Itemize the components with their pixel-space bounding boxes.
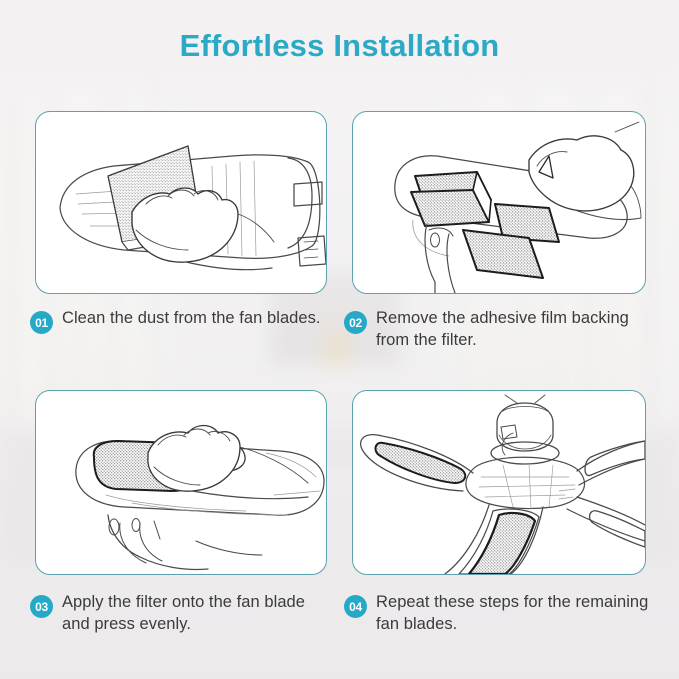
step-text-4: Repeat these steps for the remaining fan… <box>376 592 649 636</box>
step-text-3: Apply the filter onto the fan blade and … <box>62 592 330 636</box>
hand-wiping-fan-blade-icon <box>36 112 326 293</box>
step-badge-4: 04 <box>344 595 367 618</box>
step-caption-2: 02 Remove the adhesive film backing from… <box>344 308 649 352</box>
step-badge-3: 03 <box>30 595 53 618</box>
infographic-canvas: Effortless Installation <box>0 0 679 679</box>
page-title: Effortless Installation <box>0 28 679 64</box>
step-illustration-panel-2 <box>352 111 646 294</box>
step-text-1: Clean the dust from the fan blades. <box>62 308 321 330</box>
step-badge-2: 02 <box>344 311 367 334</box>
step-illustration-panel-3 <box>35 390 327 575</box>
step-illustration-panel-4 <box>352 390 646 575</box>
step-text-2: Remove the adhesive film backing from th… <box>376 308 649 352</box>
step-illustration-panel-1 <box>35 111 327 294</box>
step-caption-4: 04 Repeat these steps for the remaining … <box>344 592 649 636</box>
step-caption-1: 01 Clean the dust from the fan blades. <box>30 308 330 334</box>
hands-pressing-filter-onto-blade-icon <box>36 391 326 574</box>
hand-peeling-adhesive-film-icon <box>353 112 645 293</box>
ceiling-fan-with-filters-icon <box>353 391 645 574</box>
step-caption-3: 03 Apply the filter onto the fan blade a… <box>30 592 330 636</box>
step-badge-1: 01 <box>30 311 53 334</box>
